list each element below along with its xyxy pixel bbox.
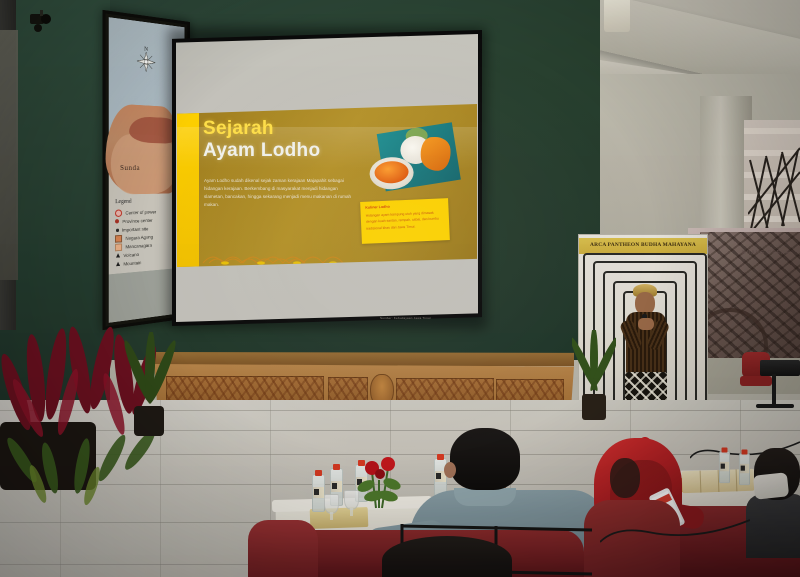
chair-seat xyxy=(740,376,772,386)
drinking-glass xyxy=(324,494,339,514)
photo-scene: N Sunda Legend Center of power Province … xyxy=(0,0,800,577)
slide-callout-box: Kuliner Lodho Hidangan ayam kampung utuh… xyxy=(360,198,450,244)
slide-body-text: Ayam Lodho sudah dikenal sejak zaman ker… xyxy=(204,177,356,209)
map-region-label: Sunda xyxy=(120,164,140,173)
legend-swatch-ring xyxy=(115,209,122,217)
legend-swatch-small-dot xyxy=(116,229,119,232)
presentation-slide: Sejarah Ayam Lodho Ayam Lodho sudah dike… xyxy=(177,104,477,267)
flower-vase-left xyxy=(352,450,408,512)
arca-banner-title: ARCA PANTHEON BUDHA MAHAYANA xyxy=(584,242,702,248)
audience-member-masked xyxy=(746,448,800,558)
legend-swatch-triangle xyxy=(116,262,120,267)
legend-swatch-square xyxy=(115,235,122,243)
keyboard-stand-pole xyxy=(772,374,776,406)
slide-title-line1: Sejarah xyxy=(203,118,274,140)
slide-title-line2: Ayam Lodho xyxy=(203,140,320,162)
slide-callout-body: Hidangan ayam kampung utuh yang dimasak … xyxy=(366,209,445,231)
legend-swatch-square xyxy=(115,243,122,251)
legend-swatch-dot xyxy=(115,220,119,224)
audience-member-foreground-head xyxy=(382,536,512,577)
compass-north-label: N xyxy=(145,46,149,53)
floor-cable-front xyxy=(600,516,750,546)
slide-callout-heading: Kuliner Lodho xyxy=(365,202,443,209)
staircase-railing-icon xyxy=(748,118,800,238)
ayam-lodho-food-photo xyxy=(365,120,465,203)
left-wall-panel xyxy=(0,30,18,280)
ruang-opera-label: RUANG OPERA xyxy=(742,250,790,256)
red-sofa-left-armrest xyxy=(248,520,318,577)
face-profile xyxy=(610,458,640,498)
compass-rose-icon: N xyxy=(129,32,162,89)
potted-plant-right-of-stage xyxy=(120,332,178,442)
torso xyxy=(746,494,800,558)
shirt-collar xyxy=(454,488,516,506)
potted-plant-far-right xyxy=(572,330,616,422)
legend-swatch-triangle xyxy=(116,254,120,259)
face-mask xyxy=(753,472,789,499)
head-back-of-hair xyxy=(450,428,520,490)
screen-bottom-caption: Sumber: Kebudayaan Jawa Timur xyxy=(380,316,431,320)
keyboard-stand-foot xyxy=(756,404,794,408)
water-bottle xyxy=(312,474,325,512)
ceiling-light xyxy=(604,0,630,32)
stage-top-surface xyxy=(150,352,574,366)
electronic-keyboard xyxy=(760,360,800,376)
water-bottle xyxy=(719,451,730,483)
presenter-hands xyxy=(638,318,654,330)
legend-label: Mountain xyxy=(123,259,141,268)
ear xyxy=(444,462,456,478)
security-camera-icon xyxy=(28,10,58,32)
